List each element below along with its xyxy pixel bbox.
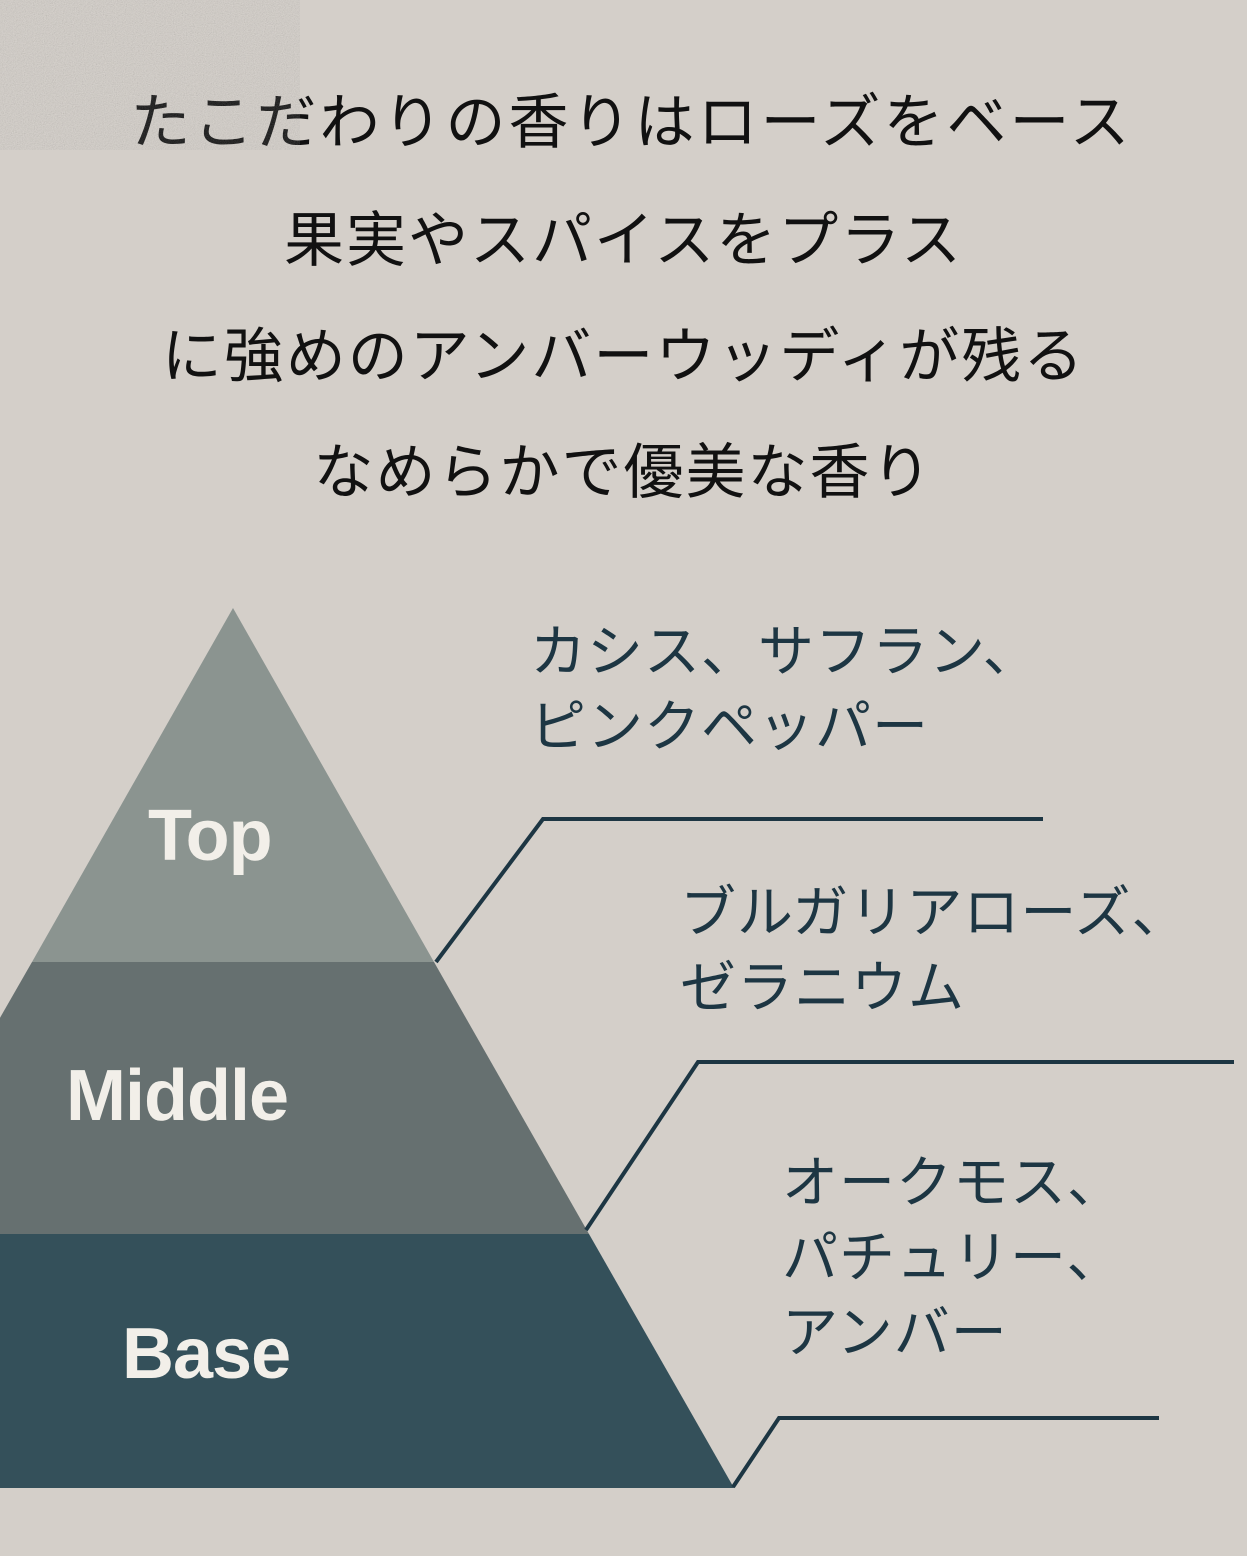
note-text-base: オークモス、パチュリー、アンバー xyxy=(782,1145,1124,1370)
note-text-top: カシス、サフラン、ピンクペッパー xyxy=(530,614,1040,764)
note-text-middle: ブルガリアローズ、ゼラニウム xyxy=(680,875,1189,1025)
pyramid-label-base: Base xyxy=(122,1313,290,1395)
pyramid-layer-base[interactable] xyxy=(0,1234,734,1488)
pyramid-label-middle: Middle xyxy=(66,1055,288,1137)
leader-line-base xyxy=(733,1418,1159,1487)
pyramid-label-top: Top xyxy=(148,795,272,877)
pyramid-layer-top[interactable] xyxy=(32,608,434,962)
